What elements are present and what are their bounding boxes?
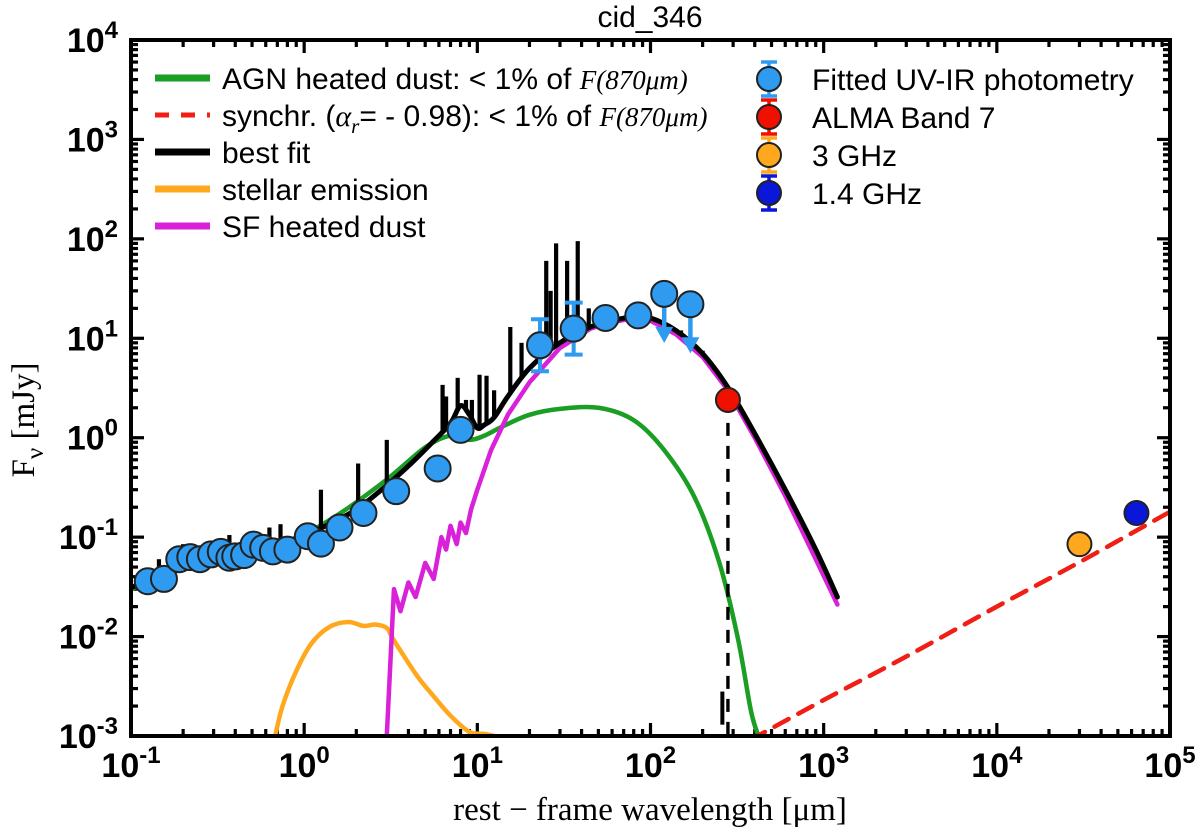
data-point-alma-band-7[interactable]: [716, 388, 740, 412]
legend-marker-sample: [757, 181, 781, 205]
data-point-fitted-uv-ir-photometry[interactable]: [383, 478, 409, 504]
legend-label: AGN heated dust: < 1% of F(870μm): [222, 63, 688, 96]
legend-marker-sample: [757, 105, 781, 129]
data-point-fitted-uv-ir-photometry[interactable]: [561, 316, 587, 342]
legend-item-agn-heated-dust-1-of[interactable]: AGN heated dust: < 1% of F(870μm): [155, 63, 688, 96]
data-point-fitted-uv-ir-photometry[interactable]: [677, 291, 703, 317]
legend-label: stellar emission: [222, 174, 429, 207]
legend-marker-sample: [757, 143, 781, 167]
page-title: cid_346: [597, 1, 702, 34]
data-point-fitted-uv-ir-photometry[interactable]: [625, 302, 651, 328]
data-point-fitted-uv-ir-photometry[interactable]: [327, 515, 353, 541]
data-point-fitted-uv-ir-photometry[interactable]: [448, 417, 474, 443]
legend-label: 3 GHz: [812, 140, 897, 173]
legend-item-fitted-uv-ir-photometry[interactable]: Fitted UV-IR photometry: [757, 62, 1134, 97]
y-axis-label-unit: [mJy]: [6, 363, 42, 448]
y-axis-label-F: F: [6, 459, 42, 477]
legend-label: best fit: [222, 137, 311, 170]
legend-marker-sample: [757, 67, 781, 91]
plot-svg: cid_346 Fν [mJy] rest − frame wavelength…: [0, 0, 1200, 836]
y-axis-label-nu: ν: [22, 448, 49, 459]
legend-label: Fitted UV-IR photometry: [812, 64, 1134, 97]
legend-label: ALMA Band 7: [812, 102, 995, 135]
data-point-fitted-uv-ir-photometry[interactable]: [350, 500, 376, 526]
data-point-fitted-uv-ir-photometry[interactable]: [425, 456, 451, 482]
sed-figure: cid_346 Fν [mJy] rest − frame wavelength…: [0, 0, 1200, 836]
legend-label: 1.4 GHz: [812, 178, 922, 211]
legend-label: SF heated dust: [222, 211, 426, 244]
data-point-fitted-uv-ir-photometry[interactable]: [593, 305, 619, 331]
data-point-fitted-uv-ir-photometry[interactable]: [527, 332, 553, 358]
data-point-3-ghz[interactable]: [1067, 532, 1091, 556]
x-axis-label: rest − frame wavelength [μm]: [453, 792, 847, 828]
data-point-1-4-ghz[interactable]: [1124, 501, 1148, 525]
data-point-fitted-uv-ir-photometry[interactable]: [651, 281, 677, 307]
